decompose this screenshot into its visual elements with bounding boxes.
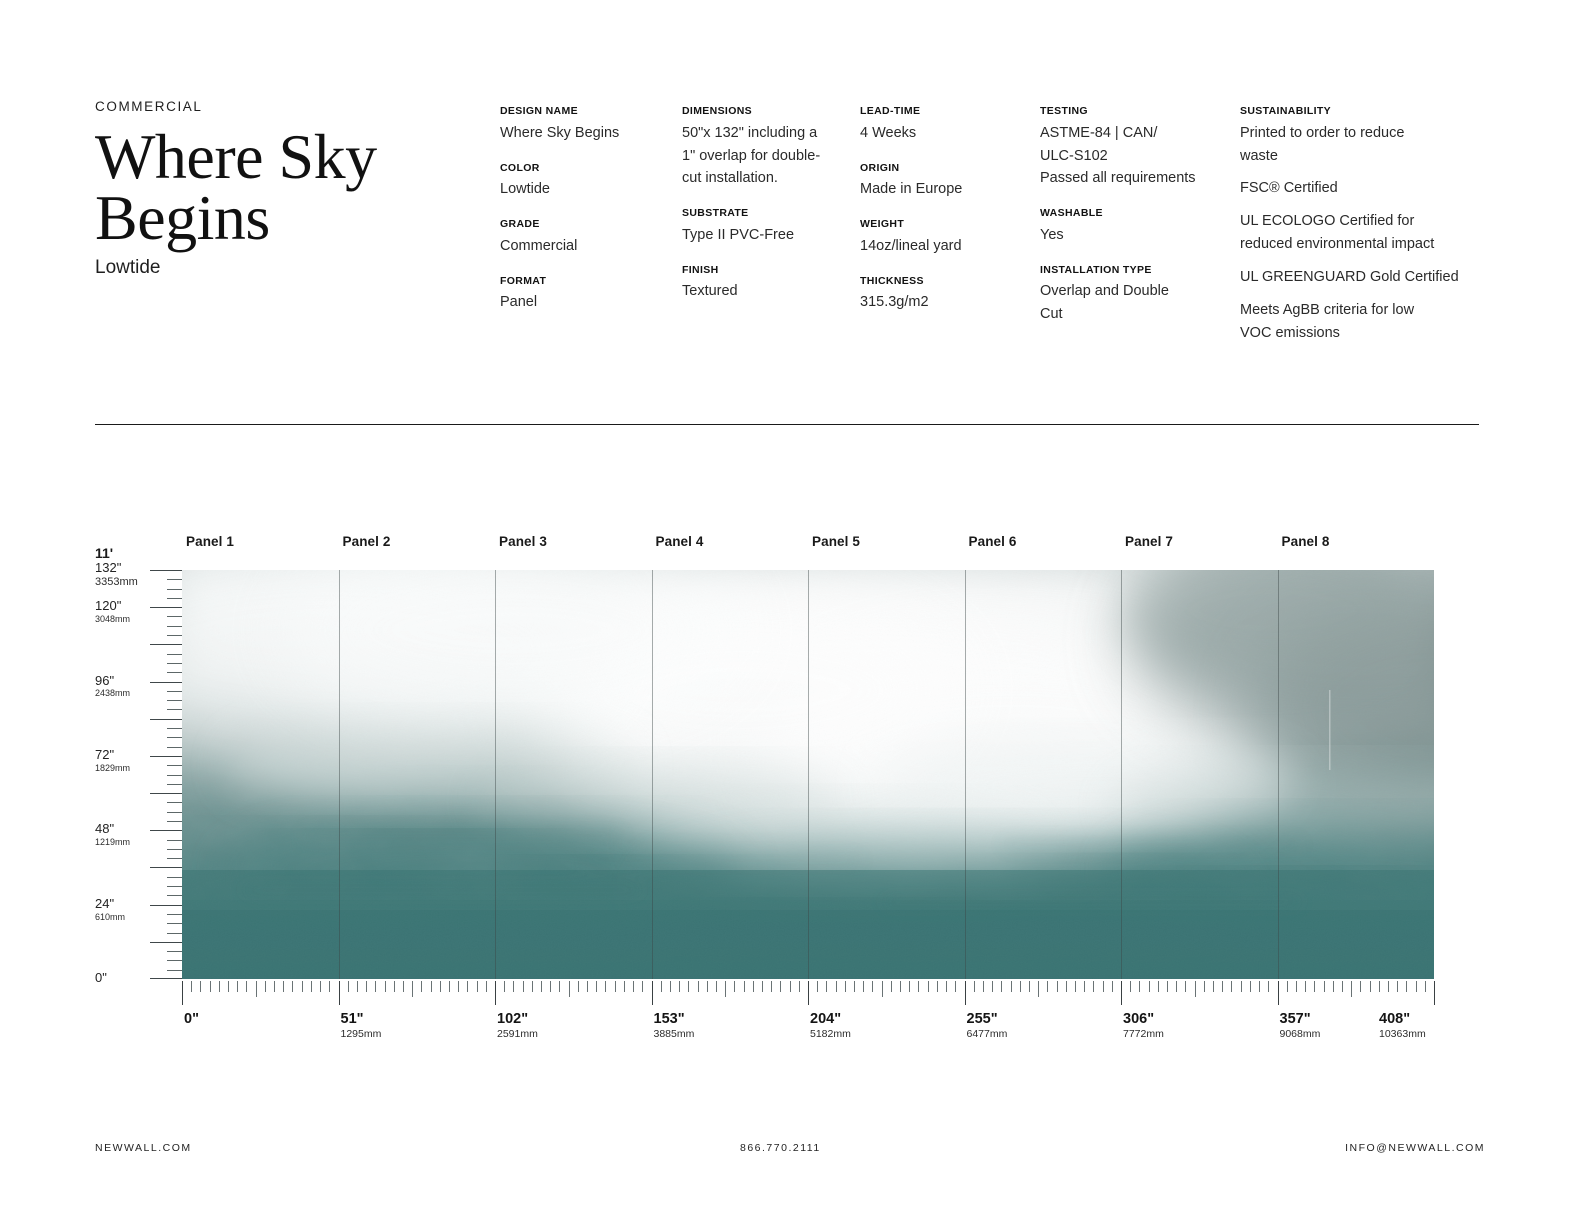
spec-value: Made in Europe	[860, 178, 1040, 201]
vertical-tick	[167, 895, 182, 896]
spec-value: Commercial	[500, 235, 682, 258]
vertical-axis-mm: 1219mm	[95, 837, 153, 847]
horizontal-tick	[624, 981, 625, 992]
horizontal-tick	[946, 981, 947, 992]
horizontal-axis-mm: 10363mm	[1379, 1028, 1426, 1041]
vertical-axis-mm: 2438mm	[95, 688, 153, 698]
vertical-axis-inches: 120"	[95, 599, 153, 614]
horizontal-tick	[753, 981, 754, 992]
horizontal-tick	[1066, 981, 1067, 992]
horizontal-tick	[302, 981, 303, 992]
horizontal-tick	[992, 981, 993, 992]
panel-label-2: Panel 2	[343, 534, 391, 549]
horizontal-tick	[1397, 981, 1398, 992]
spec-label: LEAD-TIME	[860, 105, 1040, 118]
spec-value: Overlap and Double Cut	[1040, 280, 1240, 326]
horizontal-tick	[836, 981, 837, 992]
horizontal-tick	[403, 981, 404, 992]
spec-value: Panel	[500, 291, 682, 314]
spec-value: Lowtide	[500, 178, 682, 201]
spec-value: Yes	[1040, 224, 1240, 247]
horizontal-tick	[1001, 981, 1002, 992]
horizontal-tick	[256, 981, 257, 997]
spec-label: FINISH	[682, 264, 860, 277]
footer: NEWWALL.COM 866.770.2111 INFO@NEWWALL.CO…	[95, 1142, 1485, 1162]
horizontal-tick	[762, 981, 763, 992]
horizontal-tick	[1416, 981, 1417, 992]
horizontal-axis-mm: 6477mm	[967, 1028, 1008, 1041]
vertical-tick	[167, 923, 182, 924]
horizontal-ruler	[182, 981, 1435, 1005]
vertical-tick	[167, 691, 182, 692]
horizontal-axis-mm: 5182mm	[810, 1028, 851, 1041]
vertical-axis-tick-label: 0"	[95, 971, 153, 986]
horizontal-tick	[1057, 981, 1058, 992]
panel-divider-4	[808, 570, 809, 979]
sustainability-item: UL ECOLOGO Certified for reduced environ…	[1240, 210, 1485, 256]
vertical-tick	[150, 793, 182, 794]
horizontal-tick	[357, 981, 358, 992]
vertical-ruler	[150, 570, 182, 979]
vertical-tick	[167, 951, 182, 952]
horizontal-tick	[366, 981, 367, 992]
vertical-tick	[167, 840, 182, 841]
vertical-axis-inches: 132"	[95, 561, 153, 576]
horizontal-tick	[394, 981, 395, 992]
horizontal-tick	[219, 981, 220, 992]
horizontal-tick	[1259, 981, 1260, 992]
horizontal-axis-mm: 9068mm	[1280, 1028, 1321, 1041]
horizontal-tick	[863, 981, 864, 992]
vertical-axis-feet: 11'	[95, 545, 153, 561]
horizontal-tick	[900, 981, 901, 992]
horizontal-tick	[1158, 981, 1159, 992]
horizontal-tick	[679, 981, 680, 992]
horizontal-tick	[1222, 981, 1223, 992]
spec-value: ASTME-84 | CAN/ ULC-S102 Passed all requ…	[1040, 122, 1240, 191]
header: COMMERCIAL Where Sky Begins Lowtide DESI…	[95, 100, 1485, 400]
horizontal-axis-inches: 408"	[1379, 1010, 1426, 1028]
horizontal-tick	[698, 981, 699, 992]
vertical-tick	[167, 960, 182, 961]
horizontal-tick	[191, 981, 192, 992]
horizontal-tick	[523, 981, 524, 992]
horizontal-tick	[1020, 981, 1021, 992]
horizontal-tick	[431, 981, 432, 992]
horizontal-axis-inches: 306"	[1123, 1010, 1164, 1028]
panel-divider-1	[339, 570, 340, 979]
horizontal-tick	[937, 981, 938, 992]
horizontal-tick	[1167, 981, 1168, 992]
vertical-tick	[150, 682, 182, 683]
vertical-tick	[150, 942, 182, 943]
horizontal-axis-mm: 1295mm	[341, 1028, 382, 1041]
spec-group: COLOR Lowtide	[500, 162, 682, 202]
horizontal-tick	[1351, 981, 1352, 997]
title-block: COMMERCIAL Where Sky Begins Lowtide	[95, 100, 495, 279]
horizontal-tick	[1370, 981, 1371, 992]
spec-label: DIMENSIONS	[682, 105, 860, 118]
horizontal-tick	[688, 981, 689, 992]
vertical-axis-tick-label: 120"3048mm	[95, 599, 153, 624]
horizontal-tick	[707, 981, 708, 992]
horizontal-axis-inches: 357"	[1280, 1010, 1321, 1028]
horizontal-tick	[854, 981, 855, 992]
spec-value: 50"x 132" including a 1" overlap for dou…	[682, 122, 860, 191]
spec-group: SUBSTRATE Type II PVC-Free	[682, 207, 860, 247]
header-divider-rule	[95, 424, 1479, 425]
horizontal-tick	[182, 981, 183, 1005]
spec-label: ORIGIN	[860, 162, 1040, 175]
panel-label-7: Panel 7	[1125, 534, 1173, 549]
horizontal-tick	[440, 981, 441, 992]
panel-label-4: Panel 4	[656, 534, 704, 549]
vertical-tick	[167, 635, 182, 636]
horizontal-axis-tick-label: 0"	[184, 1010, 199, 1028]
spec-group: TESTING ASTME-84 | CAN/ ULC-S102 Passed …	[1040, 105, 1240, 190]
horizontal-axis-inches: 0"	[184, 1010, 199, 1028]
horizontal-tick	[1388, 981, 1389, 992]
horizontal-tick	[1103, 981, 1104, 992]
horizontal-tick	[1425, 981, 1426, 992]
horizontal-tick	[1333, 981, 1334, 992]
horizontal-tick	[983, 981, 984, 992]
spec-value: 4 Weeks	[860, 122, 1040, 145]
horizontal-tick	[1011, 981, 1012, 992]
horizontal-tick	[817, 981, 818, 992]
vertical-tick	[150, 607, 182, 608]
vertical-axis-tick-label: 96"2438mm	[95, 674, 153, 699]
horizontal-tick	[283, 981, 284, 992]
vertical-tick	[167, 886, 182, 887]
vertical-tick	[150, 978, 182, 979]
spec-column-1: DESIGN NAME Where Sky Begins COLOR Lowti…	[500, 105, 682, 355]
panel-divider-2	[495, 570, 496, 979]
vertical-tick	[150, 867, 182, 868]
spec-value: Type II PVC-Free	[682, 224, 860, 247]
spec-group: FORMAT Panel	[500, 275, 682, 315]
horizontal-tick	[1406, 981, 1407, 992]
vertical-tick	[167, 858, 182, 859]
page-title: Where Sky Begins	[95, 126, 495, 249]
vertical-axis-tick-label: 24"610mm	[95, 897, 153, 922]
vertical-tick	[167, 728, 182, 729]
horizontal-axis-labels: 0"51"1295mm102"2591mm153"3885mm204"5182m…	[0, 1010, 1584, 1056]
horizontal-tick	[872, 981, 873, 992]
spec-label: GRADE	[500, 218, 682, 231]
spec-column-4: TESTING ASTME-84 | CAN/ ULC-S102 Passed …	[1040, 105, 1240, 355]
horizontal-axis-inches: 51"	[341, 1010, 382, 1028]
spec-group: LEAD-TIME 4 Weeks	[860, 105, 1040, 145]
vertical-tick	[167, 663, 182, 664]
horizontal-axis-tick-label: 51"1295mm	[341, 1010, 382, 1041]
spec-label: INSTALLATION TYPE	[1040, 264, 1240, 277]
vertical-axis-mm: 3353mm	[95, 576, 153, 589]
spec-value: 14oz/lineal yard	[860, 235, 1040, 258]
spec-label: WASHABLE	[1040, 207, 1240, 220]
vertical-axis-inches: 96"	[95, 674, 153, 689]
horizontal-tick	[826, 981, 827, 992]
horizontal-tick	[274, 981, 275, 992]
horizontal-tick	[559, 981, 560, 992]
spec-label: COLOR	[500, 162, 682, 175]
horizontal-tick	[265, 981, 266, 992]
horizontal-tick	[605, 981, 606, 992]
horizontal-tick	[200, 981, 201, 992]
vertical-tick	[167, 933, 182, 934]
horizontal-tick	[329, 981, 330, 992]
horizontal-axis-tick-label: 153"3885mm	[654, 1010, 695, 1041]
horizontal-axis-inches: 102"	[497, 1010, 538, 1028]
vertical-axis-inches: 0"	[95, 971, 153, 986]
vertical-tick	[167, 589, 182, 590]
horizontal-tick	[652, 981, 653, 1005]
horizontal-tick	[348, 981, 349, 992]
panel-divider-6	[1121, 570, 1122, 979]
mural-artwork	[182, 570, 1434, 979]
panel-divider-3	[652, 570, 653, 979]
vertical-tick	[167, 765, 182, 766]
spec-label: TESTING	[1040, 105, 1240, 118]
horizontal-tick	[458, 981, 459, 992]
horizontal-axis-tick-label: 255"6477mm	[967, 1010, 1008, 1041]
horizontal-axis-inches: 204"	[810, 1010, 851, 1028]
horizontal-axis-tick-label: 408"10363mm	[1379, 1010, 1426, 1041]
horizontal-tick	[965, 981, 966, 1005]
spec-label: WEIGHT	[860, 218, 1040, 231]
horizontal-tick	[661, 981, 662, 992]
vertical-tick	[167, 784, 182, 785]
panel-divider-7	[1278, 570, 1279, 979]
horizontal-tick	[210, 981, 211, 992]
spec-group: DIMENSIONS 50"x 132" including a 1" over…	[682, 105, 860, 190]
horizontal-tick	[1121, 981, 1122, 1005]
horizontal-tick	[1029, 981, 1030, 992]
horizontal-tick	[771, 981, 772, 992]
panel-label-8: Panel 8	[1282, 534, 1330, 549]
horizontal-tick	[1093, 981, 1094, 992]
horizontal-tick	[513, 981, 514, 992]
horizontal-tick	[799, 981, 800, 992]
horizontal-tick	[412, 981, 413, 997]
panel-label-1: Panel 1	[186, 534, 234, 549]
horizontal-tick	[716, 981, 717, 992]
vertical-axis-tick-label: 11'132"3353mm	[95, 545, 153, 589]
horizontal-tick	[596, 981, 597, 992]
horizontal-tick	[928, 981, 929, 992]
horizontal-tick	[228, 981, 229, 992]
footer-email[interactable]: INFO@NEWWALL.COM	[1345, 1142, 1485, 1154]
horizontal-tick	[845, 981, 846, 992]
vertical-tick	[167, 821, 182, 822]
horizontal-tick	[1250, 981, 1251, 992]
vertical-tick	[167, 849, 182, 850]
horizontal-tick	[1204, 981, 1205, 992]
horizontal-tick	[1047, 981, 1048, 992]
horizontal-tick	[633, 981, 634, 992]
page-subtitle: Lowtide	[95, 258, 495, 279]
spec-value: 315.3g/m2	[860, 291, 1040, 314]
horizontal-axis-tick-label: 204"5182mm	[810, 1010, 851, 1041]
panel-label-3: Panel 3	[499, 534, 547, 549]
horizontal-tick	[1268, 981, 1269, 992]
spec-group: ORIGIN Made in Europe	[860, 162, 1040, 202]
horizontal-tick	[882, 981, 883, 997]
horizontal-tick	[1379, 981, 1380, 992]
footer-phone[interactable]: 866.770.2111	[740, 1142, 821, 1154]
spec-value: Where Sky Begins	[500, 122, 682, 145]
horizontal-axis-tick-label: 357"9068mm	[1280, 1010, 1321, 1041]
horizontal-tick	[246, 981, 247, 992]
spec-label: SUSTAINABILITY	[1240, 105, 1485, 118]
horizontal-axis-inches: 255"	[967, 1010, 1008, 1028]
panel-label-row: Panel 1Panel 2Panel 3Panel 4Panel 5Panel…	[182, 534, 1434, 554]
horizontal-tick	[725, 981, 726, 997]
horizontal-axis-inches: 153"	[654, 1010, 695, 1028]
horizontal-tick	[292, 981, 293, 992]
horizontal-tick	[1231, 981, 1232, 992]
horizontal-tick	[311, 981, 312, 992]
horizontal-tick	[734, 981, 735, 992]
panel-divider-5	[965, 570, 966, 979]
horizontal-tick	[918, 981, 919, 992]
spec-column-3: LEAD-TIME 4 Weeks ORIGIN Made in Europe …	[860, 105, 1040, 355]
horizontal-axis-tick-label: 102"2591mm	[497, 1010, 538, 1041]
horizontal-axis-mm: 2591mm	[497, 1028, 538, 1041]
horizontal-tick	[615, 981, 616, 992]
spec-group: WASHABLE Yes	[1040, 207, 1240, 247]
horizontal-tick	[504, 981, 505, 992]
vertical-tick	[167, 672, 182, 673]
vertical-tick	[150, 756, 182, 757]
spec-group: DESIGN NAME Where Sky Begins	[500, 105, 682, 145]
panel-label-6: Panel 6	[969, 534, 1017, 549]
horizontal-tick	[780, 981, 781, 992]
horizontal-tick	[974, 981, 975, 992]
horizontal-tick	[909, 981, 910, 992]
vertical-tick	[167, 626, 182, 627]
horizontal-tick	[495, 981, 496, 1005]
horizontal-axis-mm: 7772mm	[1123, 1028, 1164, 1041]
horizontal-tick	[486, 981, 487, 992]
vertical-tick	[150, 644, 182, 645]
horizontal-tick	[891, 981, 892, 992]
horizontal-tick	[1287, 981, 1288, 992]
horizontal-tick	[1314, 981, 1315, 992]
horizontal-axis-mm: 3885mm	[654, 1028, 695, 1041]
horizontal-tick	[1241, 981, 1242, 992]
horizontal-axis-tick-label: 306"7772mm	[1123, 1010, 1164, 1041]
horizontal-tick	[1342, 981, 1343, 992]
vertical-axis-inches: 72"	[95, 748, 153, 763]
spec-group: THICKNESS 315.3g/m2	[860, 275, 1040, 315]
vertical-tick	[150, 830, 182, 831]
horizontal-tick	[339, 981, 340, 1005]
spec-label: SUBSTRATE	[682, 207, 860, 220]
vertical-axis-labels: 11'132"3353mm120"3048mm96"2438mm72"1829m…	[95, 548, 153, 988]
horizontal-tick	[532, 981, 533, 992]
vertical-tick	[167, 812, 182, 813]
vertical-tick	[167, 709, 182, 710]
horizontal-tick	[237, 981, 238, 992]
horizontal-tick	[1139, 981, 1140, 992]
horizontal-tick	[744, 981, 745, 992]
vertical-axis-mm: 3048mm	[95, 614, 153, 624]
vertical-axis-mm: 1829mm	[95, 763, 153, 773]
spec-label: FORMAT	[500, 275, 682, 288]
horizontal-tick	[550, 981, 551, 992]
spec-column-2: DIMENSIONS 50"x 132" including a 1" over…	[682, 105, 860, 355]
eyebrow-label: COMMERCIAL	[95, 100, 495, 114]
horizontal-tick	[955, 981, 956, 992]
horizontal-tick	[587, 981, 588, 992]
horizontal-tick	[1149, 981, 1150, 992]
vertical-tick	[167, 970, 182, 971]
horizontal-tick	[1360, 981, 1361, 992]
panel-label-5: Panel 5	[812, 534, 860, 549]
horizontal-tick	[1305, 981, 1306, 992]
vertical-tick	[167, 616, 182, 617]
spec-group: INSTALLATION TYPE Overlap and Double Cut	[1040, 264, 1240, 326]
vertical-tick	[167, 737, 182, 738]
spec-group: FINISH Textured	[682, 264, 860, 304]
horizontal-tick	[1112, 981, 1113, 992]
horizontal-tick	[1075, 981, 1076, 992]
vertical-tick	[167, 700, 182, 701]
vertical-axis-inches: 24"	[95, 897, 153, 912]
vertical-axis-mm: 610mm	[95, 912, 153, 922]
spec-column-5: SUSTAINABILITY Printed to order to reduc…	[1240, 105, 1485, 355]
horizontal-tick	[541, 981, 542, 992]
horizontal-tick	[569, 981, 570, 997]
horizontal-tick	[320, 981, 321, 992]
vertical-tick	[150, 719, 182, 720]
sustainability-item: UL GREENGUARD Gold Certified	[1240, 266, 1485, 289]
horizontal-tick	[1176, 981, 1177, 992]
horizontal-tick	[477, 981, 478, 992]
vertical-tick	[167, 775, 182, 776]
horizontal-tick	[1195, 981, 1196, 997]
sustainability-item: FSC® Certified	[1240, 177, 1485, 200]
horizontal-tick	[449, 981, 450, 992]
spec-value: Textured	[682, 280, 860, 303]
vertical-axis-tick-label: 72"1829mm	[95, 748, 153, 773]
sustainability-item: Meets AgBB criteria for low VOC emission…	[1240, 299, 1485, 345]
horizontal-tick	[1278, 981, 1279, 1005]
vertical-tick	[167, 914, 182, 915]
horizontal-tick	[1434, 981, 1435, 1005]
vertical-tick	[167, 802, 182, 803]
vertical-tick	[167, 877, 182, 878]
spec-group: WEIGHT 14oz/lineal yard	[860, 218, 1040, 258]
vertical-axis-tick-label: 48"1219mm	[95, 822, 153, 847]
footer-website[interactable]: NEWWALL.COM	[95, 1142, 192, 1154]
horizontal-tick	[1130, 981, 1131, 992]
horizontal-tick	[808, 981, 809, 1005]
horizontal-tick	[1084, 981, 1085, 992]
horizontal-tick	[578, 981, 579, 992]
horizontal-tick	[375, 981, 376, 992]
horizontal-tick	[1324, 981, 1325, 992]
vertical-tick	[150, 570, 182, 571]
spec-group: GRADE Commercial	[500, 218, 682, 258]
horizontal-tick	[1038, 981, 1039, 997]
horizontal-tick	[1213, 981, 1214, 992]
vertical-tick	[167, 654, 182, 655]
horizontal-tick	[790, 981, 791, 992]
vertical-tick	[167, 747, 182, 748]
vertical-tick	[167, 579, 182, 580]
